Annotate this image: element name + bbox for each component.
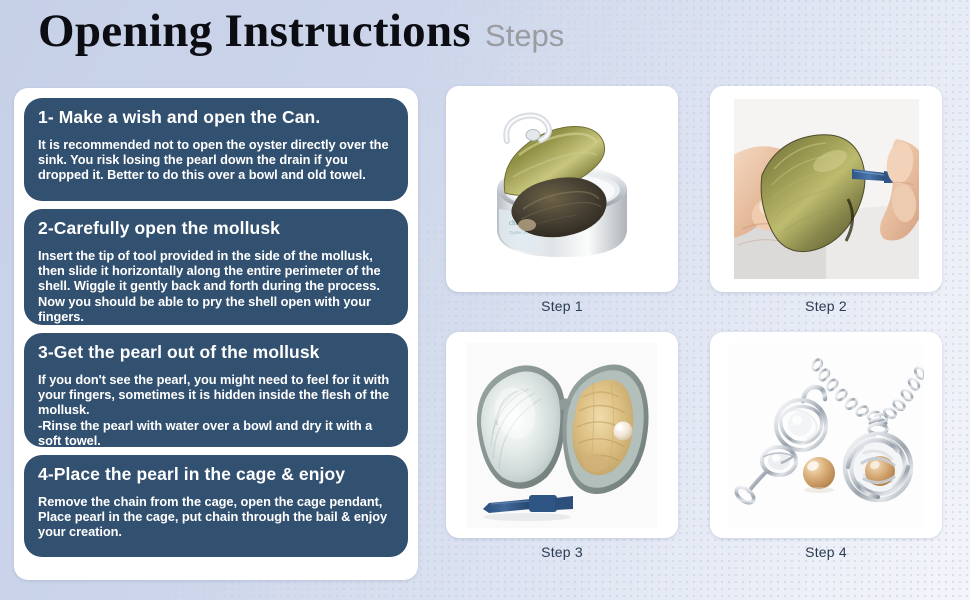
photo-caption-step-3: Step 3 xyxy=(541,544,583,560)
step-card-1-title: 1- Make a wish and open the Can. xyxy=(38,107,394,128)
photo-grid: cheferia Oyster in Water . 8oz xyxy=(446,86,954,586)
step-card-3-title: 3-Get the pearl out of the mollusk xyxy=(38,342,394,363)
step-card-3: 3-Get the pearl out of the mollusk If yo… xyxy=(24,333,408,447)
step-card-3-body: If you don't see the pearl, you might ne… xyxy=(38,372,394,448)
photo-card-step-4 xyxy=(710,332,942,538)
photo-card-step-3 xyxy=(446,332,678,538)
step-card-1: 1- Make a wish and open the Can. It is r… xyxy=(24,98,408,201)
step-card-4-body: Remove the chain from the cage, open the… xyxy=(38,494,394,540)
page-title: Opening Instructions xyxy=(38,8,471,55)
photo-caption-step-4: Step 4 xyxy=(805,544,847,560)
photo-caption-step-1: Step 1 xyxy=(541,298,583,314)
step-card-4: 4-Place the pearl in the cage & enjoy Re… xyxy=(24,455,408,557)
photo-cell-3: Step 3 xyxy=(446,332,678,560)
opened-mollusk-with-pearl-photo xyxy=(467,343,657,528)
step-card-2: 2-Carefully open the mollusk Insert the … xyxy=(24,209,408,325)
hands-opening-mollusk-with-tool-photo xyxy=(734,99,919,279)
page-header: Opening Instructions Steps xyxy=(38,8,564,55)
page-subtitle: Steps xyxy=(485,20,564,51)
step-card-2-title: 2-Carefully open the mollusk xyxy=(38,218,394,239)
step-card-2-body: Insert the tip of tool provided in the s… xyxy=(38,248,394,324)
step-card-1-body: It is recommended not to open the oyster… xyxy=(38,137,394,183)
step-card-4-title: 4-Place the pearl in the cage & enjoy xyxy=(38,464,394,485)
opened-can-with-oyster-photo: cheferia Oyster in Water . 8oz xyxy=(467,97,657,282)
steps-panel: 1- Make a wish and open the Can. It is r… xyxy=(14,88,418,580)
instructions-page: Opening Instructions Steps 1- Make a wis… xyxy=(0,0,970,600)
photo-cell-2: Step 2 xyxy=(710,86,942,314)
photo-cell-1: cheferia Oyster in Water . 8oz xyxy=(446,86,678,314)
photo-card-step-2 xyxy=(710,86,942,292)
photo-cell-4: Step 4 xyxy=(710,332,942,560)
photo-card-step-1: cheferia Oyster in Water . 8oz xyxy=(446,86,678,292)
pearl-cage-pendant-necklace-photo xyxy=(729,343,924,528)
photo-caption-step-2: Step 2 xyxy=(805,298,847,314)
